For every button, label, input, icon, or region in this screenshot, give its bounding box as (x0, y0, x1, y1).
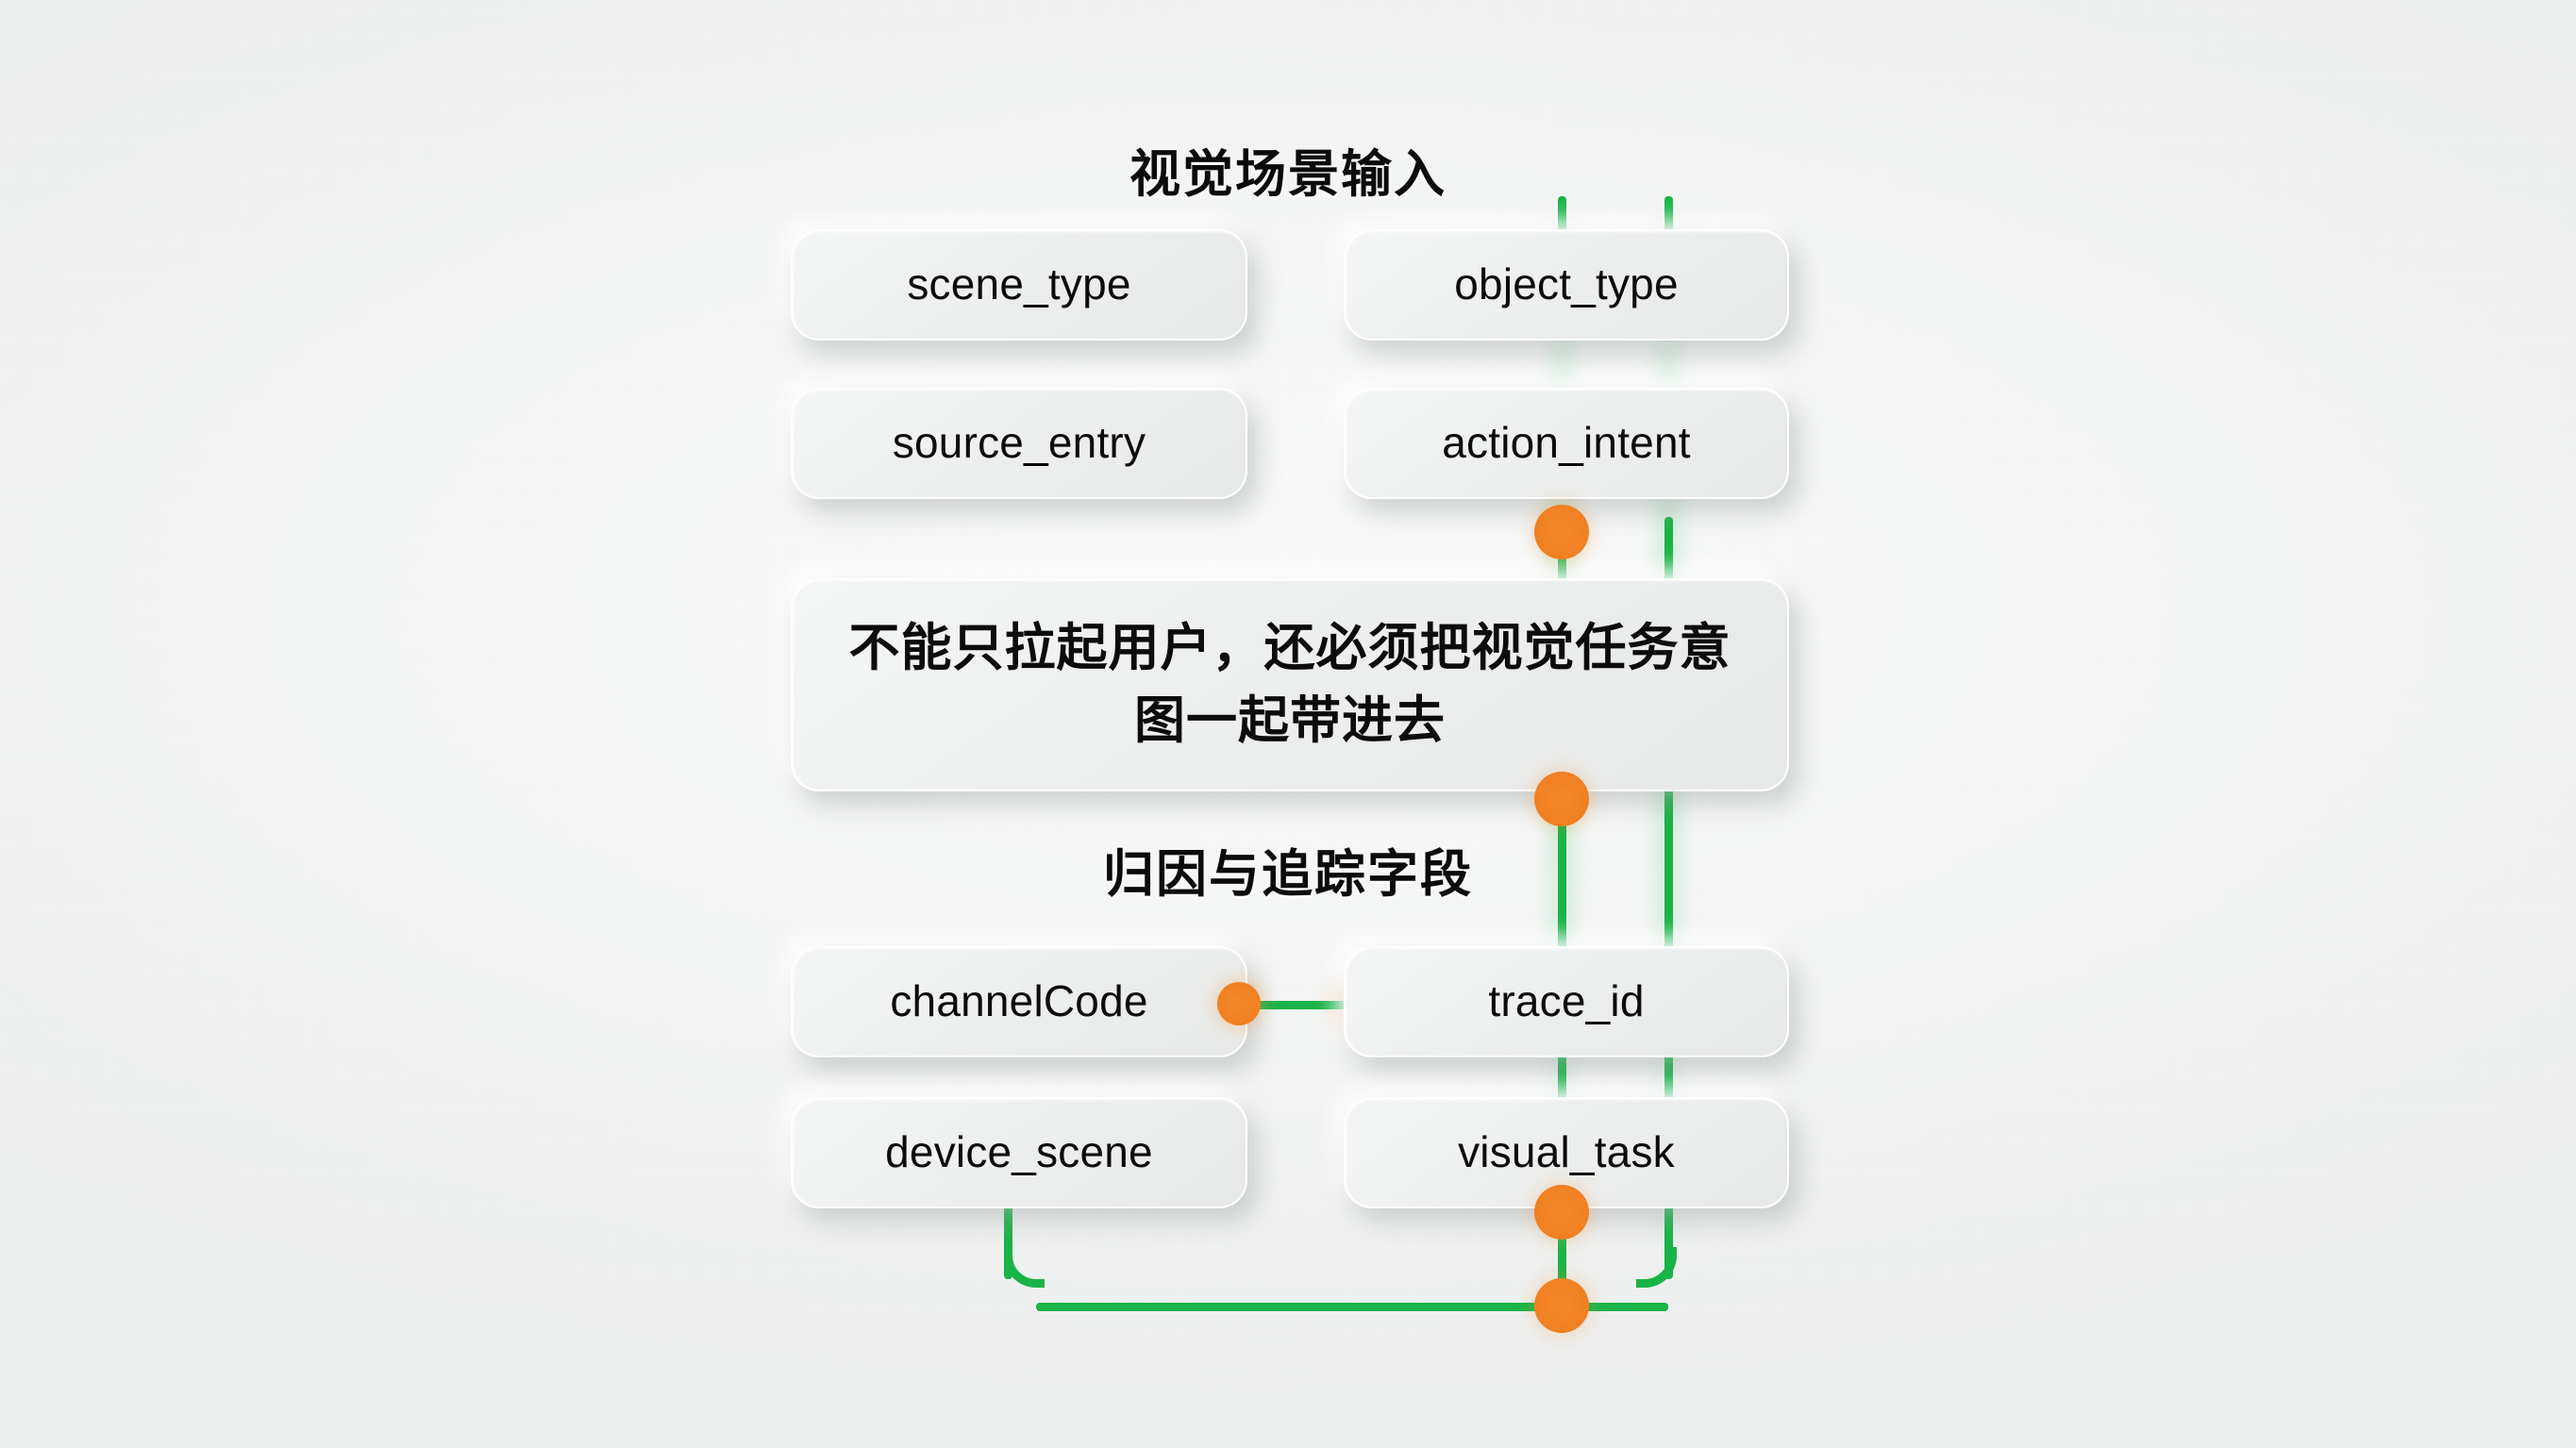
wire-right-mid-segment (1664, 517, 1673, 585)
field-card-channel-code[interactable]: channelCode (791, 946, 1247, 1057)
junction-node-loop[interactable] (1534, 1278, 1589, 1333)
field-label-source-entry: source_entry (893, 416, 1146, 471)
junction-node-visual-task[interactable] (1534, 1185, 1589, 1240)
field-label-trace-id: trace_id (1488, 974, 1644, 1029)
field-label-scene-type: scene_type (907, 258, 1130, 312)
field-card-trace-id[interactable]: trace_id (1344, 946, 1789, 1057)
field-card-scene-type[interactable]: scene_type (791, 229, 1247, 341)
field-card-object-type[interactable]: object_type (1344, 229, 1789, 341)
junction-node-channelcode[interactable] (1217, 982, 1261, 1025)
callout-card[interactable]: 不能只拉起用户，还必须把视觉任务意图一起带进去 (791, 578, 1789, 791)
field-card-device-scene[interactable]: device_scene (791, 1097, 1247, 1208)
section-title-attribution-tracking: 归因与追踪字段 (788, 832, 1788, 907)
wire-corner-bottom-right (1636, 1247, 1677, 1288)
field-label-device-scene: device_scene (885, 1125, 1153, 1180)
field-label-action-intent: action_intent (1442, 416, 1690, 471)
callout-text: 不能只拉起用户，还必须把视觉任务意图一起带进去 (793, 612, 1787, 757)
field-label-channel-code: channelCode (890, 974, 1147, 1029)
diagram-canvas: 视觉场景输入 scene_type object_type source_ent… (0, 0, 2576, 1448)
field-card-action-intent[interactable]: action_intent (1344, 388, 1789, 499)
junction-node-action-intent[interactable] (1534, 505, 1589, 559)
field-flow-diagram: 视觉场景输入 scene_type object_type source_ent… (0, 0, 2576, 1448)
junction-node-callout[interactable] (1534, 772, 1589, 826)
field-card-source-entry[interactable]: source_entry (791, 388, 1247, 499)
wire-corner-bottom-left (1004, 1247, 1045, 1288)
section-title-visual-scene-input: 视觉场景输入 (788, 132, 1788, 207)
field-label-object-type: object_type (1454, 258, 1678, 312)
